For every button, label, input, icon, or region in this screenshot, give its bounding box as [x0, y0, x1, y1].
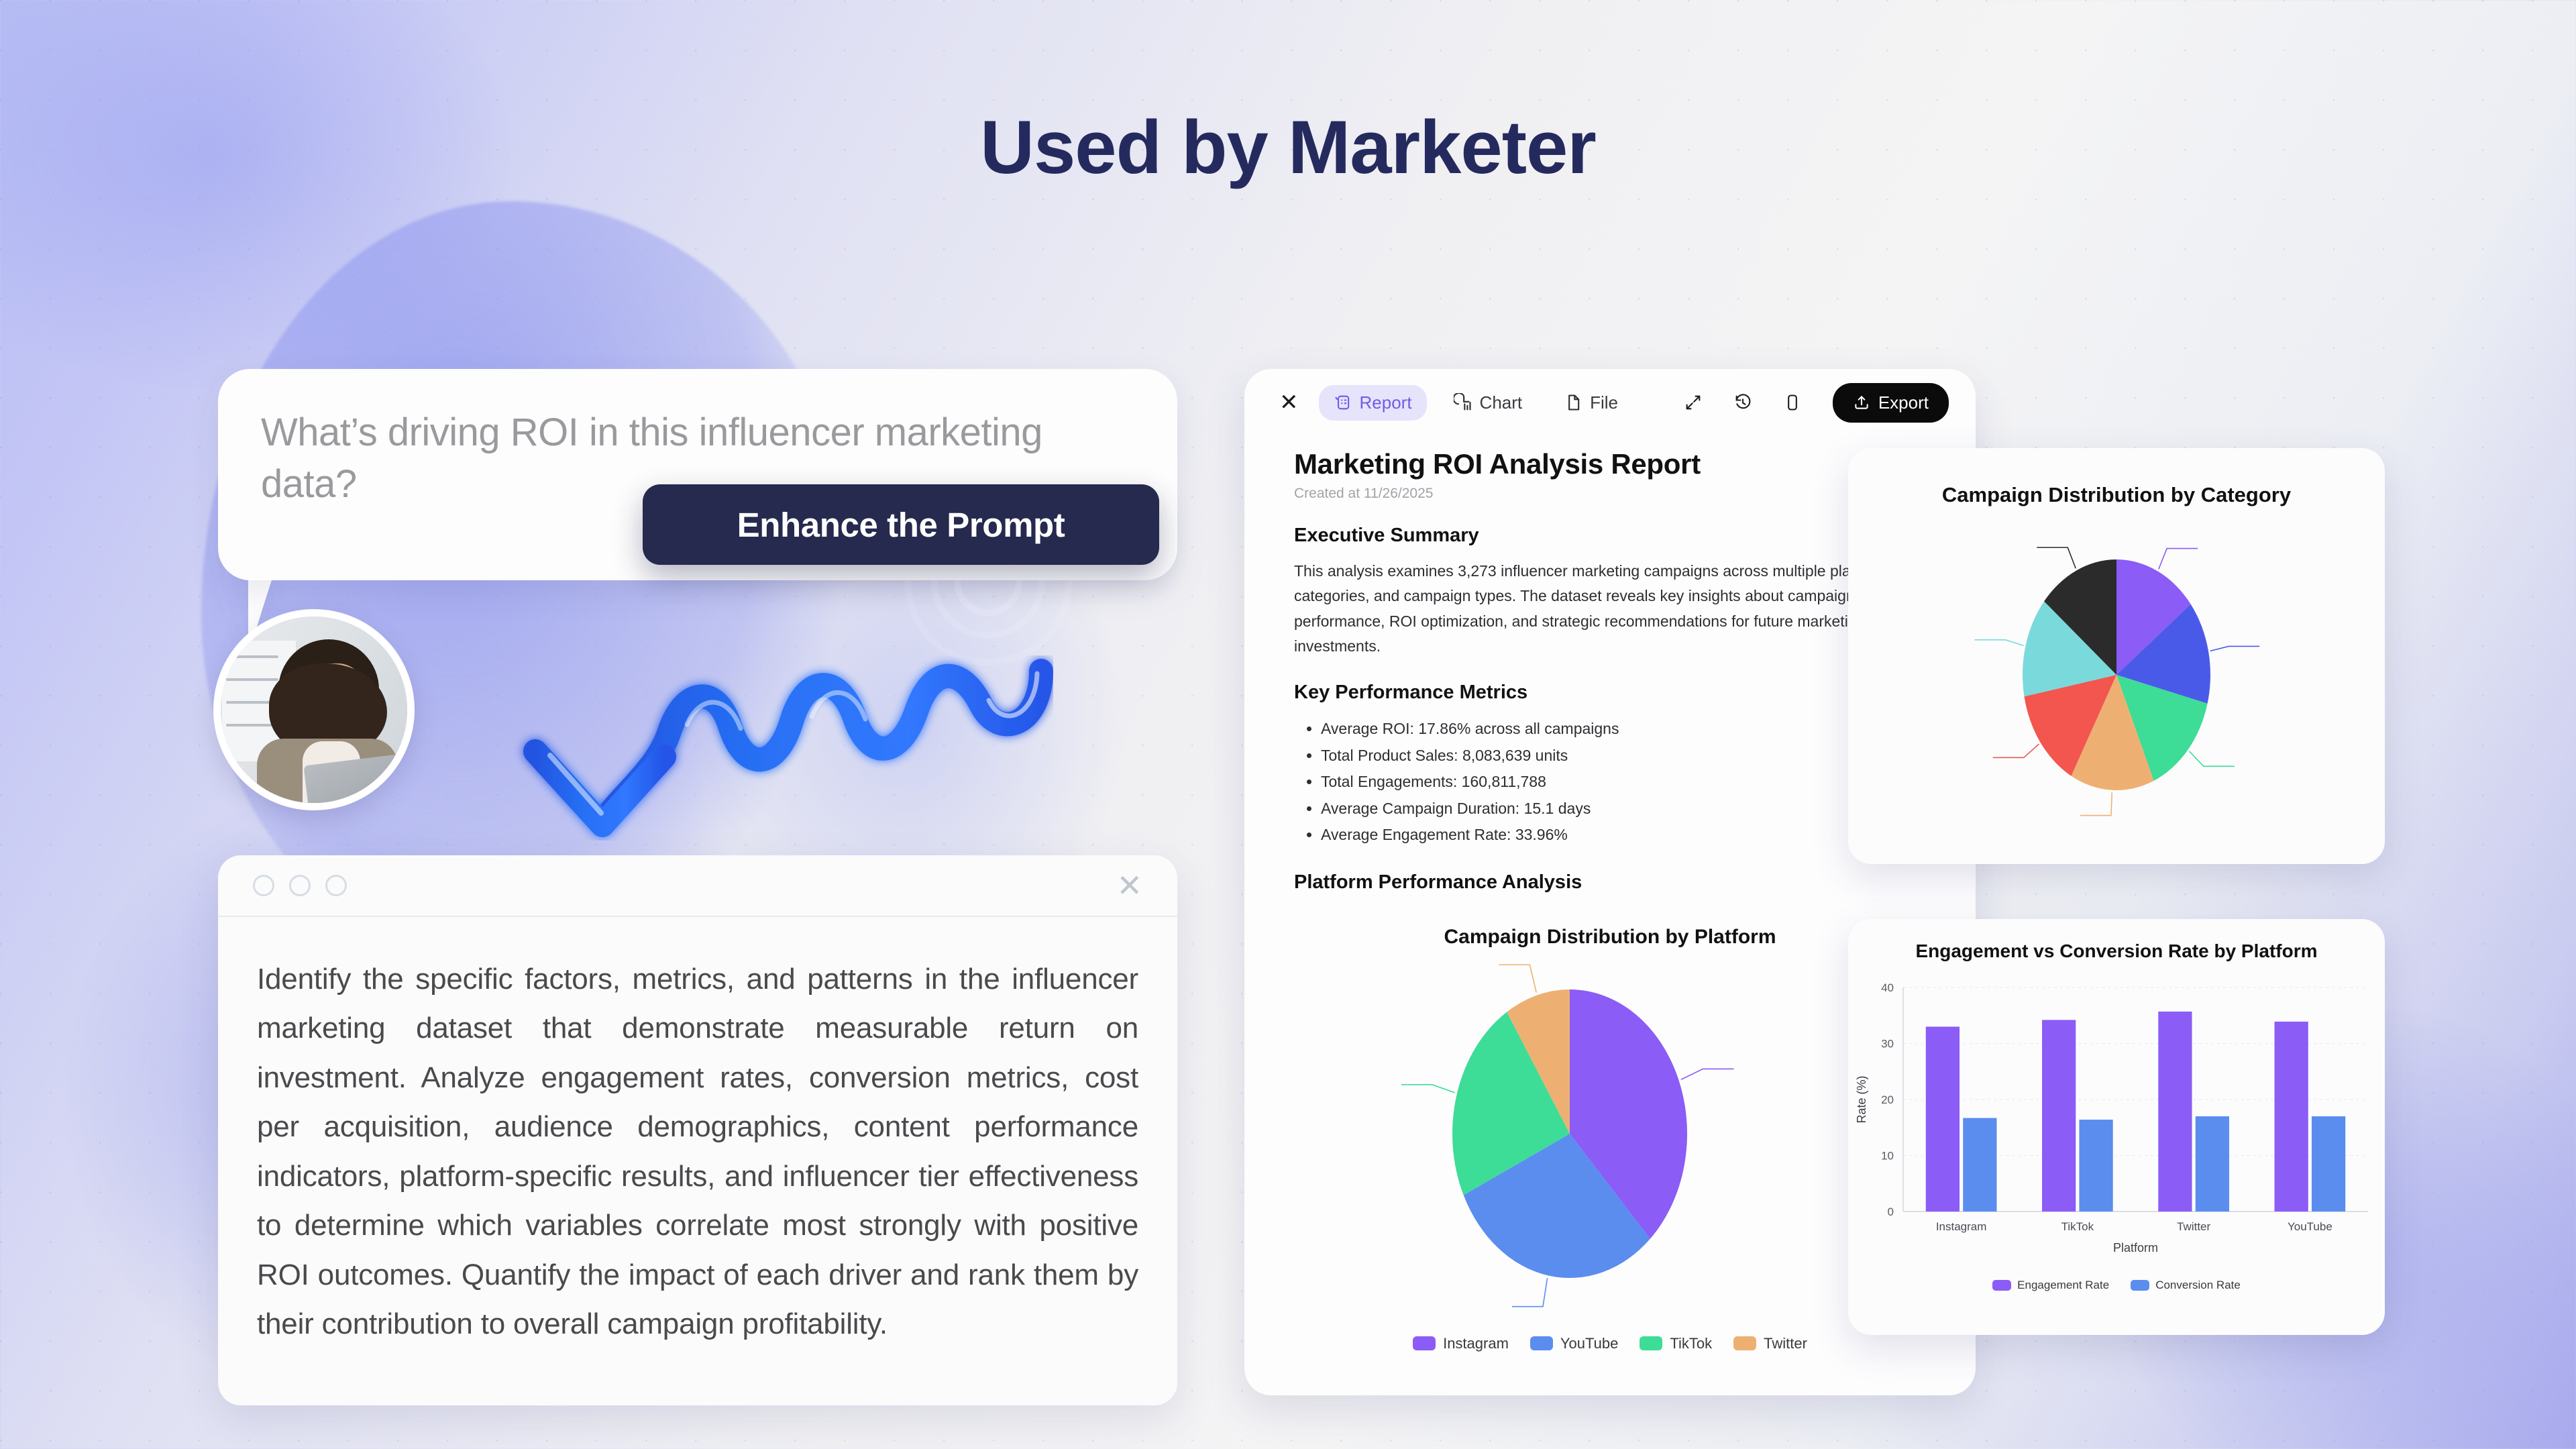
pie-leader-line	[1499, 965, 1536, 992]
upload-icon	[1853, 394, 1870, 411]
bar	[2196, 1116, 2229, 1212]
bar-chart-legend: Engagement RateConversion Rate	[1848, 1279, 2385, 1292]
legend-swatch	[1530, 1336, 1553, 1350]
legend-swatch	[1413, 1336, 1436, 1350]
history-icon[interactable]	[1731, 390, 1755, 415]
tab-report[interactable]: Report	[1319, 385, 1427, 421]
y-axis-tick: 40	[1881, 981, 1894, 994]
page-title: Used by Marketer	[0, 104, 2576, 191]
legend-swatch	[2131, 1280, 2149, 1291]
bar	[2312, 1116, 2345, 1212]
platform-pie-legend: InstagramYouTubeTikTokTwitter	[1294, 1335, 1926, 1352]
bar	[1963, 1118, 1996, 1212]
device-icon[interactable]	[1780, 390, 1805, 415]
platform-pie-title: Campaign Distribution by Platform	[1294, 926, 1926, 949]
category-chart-card: Campaign Distribution by Category	[1848, 448, 2385, 864]
pie-leader-line	[1993, 744, 2039, 757]
engagement-conversion-bar-chart: 010203040InstagramTikTokTwitterYouTubePl…	[1848, 962, 2385, 1277]
tab-chart-label: Chart	[1480, 392, 1523, 413]
tab-file[interactable]: File	[1549, 385, 1633, 421]
enhance-the-prompt-button[interactable]: Enhance the Prompt	[643, 484, 1159, 565]
section-heading-key-performance-metrics: Key Performance Metrics	[1294, 682, 1926, 704]
category-pie-chart	[1848, 507, 2385, 843]
window-dot-close[interactable]	[253, 875, 274, 896]
window-dot-minimize[interactable]	[289, 875, 311, 896]
legend-swatch	[1733, 1336, 1756, 1350]
window-dot-maximize[interactable]	[325, 875, 347, 896]
kpi-list: Average ROI: 17.86% across all campaigns…	[1294, 716, 1926, 849]
export-button[interactable]: Export	[1833, 383, 1949, 423]
report-created-at: Created at 11/26/2025	[1294, 486, 1926, 502]
enhanced-prompt-window: ✕ Identify the specific factors, metrics…	[218, 855, 1177, 1405]
legend-swatch	[1992, 1280, 2011, 1291]
x-axis-tick: Twitter	[2177, 1220, 2210, 1233]
platform-pie-chart	[1294, 953, 1926, 1328]
report-icon	[1334, 393, 1352, 412]
tab-report-label: Report	[1360, 392, 1412, 413]
pie-leader-line	[1681, 1069, 1734, 1079]
pie-leader-line	[2037, 547, 2076, 568]
export-button-label: Export	[1878, 392, 1929, 413]
x-axis-tick: YouTube	[2288, 1220, 2332, 1233]
x-axis-label: Platform	[2113, 1241, 2158, 1254]
legend-label: Engagement Rate	[2017, 1279, 2109, 1292]
x-axis-tick: TikTok	[2061, 1220, 2094, 1233]
y-axis-tick: 10	[1881, 1150, 1894, 1163]
window-control-dots[interactable]	[253, 875, 347, 896]
legend-item: Instagram	[1413, 1335, 1509, 1352]
bar-chart-title: Engagement vs Conversion Rate by Platfor…	[1848, 919, 2385, 962]
bar	[2158, 1012, 2192, 1212]
category-pie-title: Campaign Distribution by Category	[1848, 448, 2385, 507]
pie-leader-line	[1512, 1278, 1548, 1306]
close-icon[interactable]: ✕	[1271, 389, 1307, 416]
legend-label: YouTube	[1560, 1335, 1618, 1352]
list-item: Average Campaign Duration: 15.1 days	[1321, 796, 1926, 822]
bar	[2079, 1120, 2112, 1212]
legend-label: Instagram	[1443, 1335, 1509, 1352]
x-axis-tick: Instagram	[1936, 1220, 1987, 1233]
legend-item: Engagement Rate	[1992, 1279, 2109, 1292]
y-axis-tick: 20	[1881, 1093, 1894, 1106]
report-title: Marketing ROI Analysis Report	[1294, 448, 1926, 480]
executive-summary-body: This analysis examines 3,273 influencer …	[1294, 559, 1926, 659]
legend-item: TikTok	[1640, 1335, 1712, 1352]
legend-label: TikTok	[1670, 1335, 1712, 1352]
background-blob	[0, 0, 510, 389]
pie-leader-line	[2159, 549, 2198, 570]
section-heading-platform-performance: Platform Performance Analysis	[1294, 871, 1926, 894]
pie-leader-line	[2080, 792, 2112, 815]
legend-item: Twitter	[1733, 1335, 1807, 1352]
tab-file-label: File	[1590, 392, 1618, 413]
expand-icon[interactable]	[1681, 390, 1705, 415]
window-titlebar: ✕	[218, 855, 1177, 917]
bar	[2275, 1022, 2308, 1212]
y-axis-tick: 30	[1881, 1038, 1894, 1051]
pie-leader-line	[2210, 646, 2259, 651]
list-item: Average ROI: 17.86% across all campaigns	[1321, 716, 1926, 743]
tab-chart[interactable]: Chart	[1439, 385, 1538, 421]
legend-item: Conversion Rate	[2131, 1279, 2241, 1292]
list-item: Average Engagement Rate: 33.96%	[1321, 822, 1926, 849]
enhanced-prompt-text: Identify the specific factors, metrics, …	[218, 917, 1177, 1387]
bar	[1926, 1026, 1960, 1212]
squiggly-arrow-icon	[463, 624, 1053, 859]
y-axis-label: Rate (%)	[1855, 1075, 1868, 1123]
list-item: Total Product Sales: 8,083,639 units	[1321, 743, 1926, 769]
avatar	[213, 609, 415, 810]
section-heading-executive-summary: Executive Summary	[1294, 525, 1926, 547]
bar-chart-card: Engagement vs Conversion Rate by Platfor…	[1848, 919, 2385, 1335]
legend-item: YouTube	[1530, 1335, 1618, 1352]
legend-label: Twitter	[1764, 1335, 1807, 1352]
pie-leader-line	[2190, 751, 2235, 766]
chart-icon	[1454, 393, 1472, 412]
close-icon[interactable]: ✕	[1116, 870, 1142, 901]
legend-swatch	[1640, 1336, 1662, 1350]
list-item: Total Engagements: 160,811,788	[1321, 769, 1926, 796]
file-icon	[1564, 393, 1582, 412]
legend-label: Conversion Rate	[2155, 1279, 2241, 1292]
report-toolbar: ✕ Report Chart File	[1244, 369, 1976, 436]
bar	[2042, 1020, 2076, 1212]
y-axis-tick: 0	[1888, 1205, 1894, 1218]
pie-leader-line	[1975, 640, 2024, 646]
enhance-button-label: Enhance the Prompt	[737, 505, 1065, 545]
pie-leader-line	[1401, 1085, 1455, 1093]
